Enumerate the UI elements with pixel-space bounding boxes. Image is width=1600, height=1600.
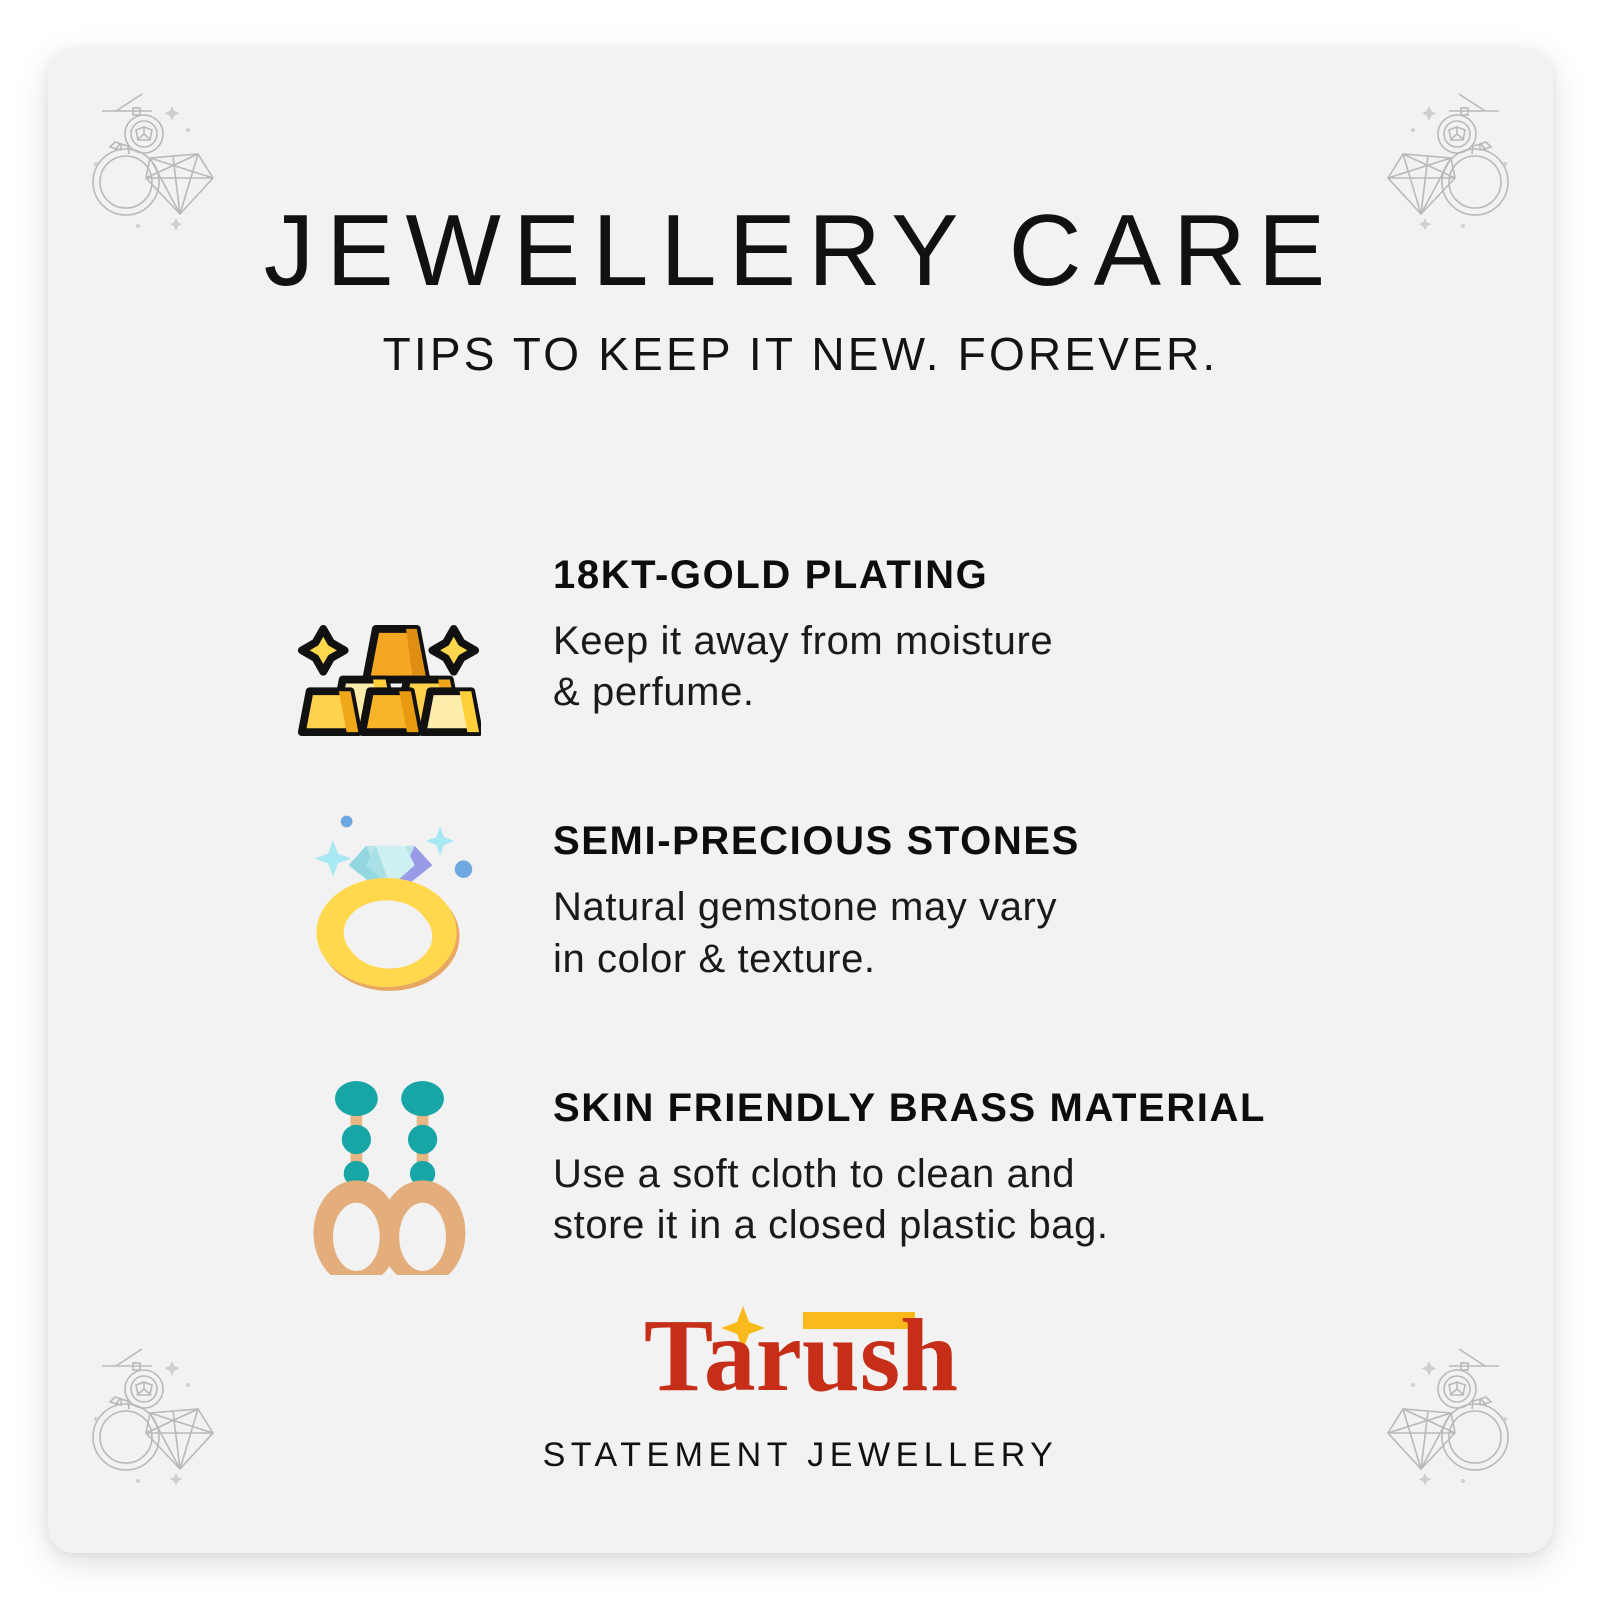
- tip-item-brass-material: SKIN FRIENDLY BRASS MATERIAL Use a soft …: [296, 1081, 1516, 1251]
- tip-item-gold-plating: 18KT-GOLD PLATING Keep it away from mois…: [296, 548, 1516, 718]
- tip-item-semi-precious-stones: SEMI-PRECIOUS STONES Natural gemstone ma…: [296, 814, 1516, 984]
- page-title: JEWELLERY CARE: [48, 198, 1553, 305]
- tip-description: Use a soft cloth to clean and store it i…: [553, 1149, 1516, 1251]
- care-card: JEWELLERY CARE TIPS TO KEEP IT NEW. FORE…: [48, 48, 1553, 1553]
- header: JEWELLERY CARE TIPS TO KEEP IT NEW. FORE…: [48, 198, 1553, 381]
- tip-description: Keep it away from moisture & perfume.: [553, 616, 1516, 718]
- gold-bars-icon: [296, 570, 481, 755]
- tip-body: SKIN FRIENDLY BRASS MATERIAL Use a soft …: [553, 1081, 1516, 1251]
- brand-tagline: STATEMENT JEWELLERY: [48, 1436, 1553, 1475]
- tip-heading: 18KT-GOLD PLATING: [553, 552, 1516, 598]
- tip-heading: SKIN FRIENDLY BRASS MATERIAL: [553, 1085, 1516, 1131]
- footer: Tarush STATEMENT JEWELLERY: [48, 1290, 1553, 1475]
- logo-wordmark: Tarush: [643, 1298, 957, 1400]
- drop-earrings-icon: [296, 1083, 481, 1268]
- page-subtitle: TIPS TO KEEP IT NEW. FOREVER.: [48, 327, 1553, 381]
- tips-list: 18KT-GOLD PLATING Keep it away from mois…: [296, 548, 1516, 1251]
- tip-description: Natural gemstone may vary in color & tex…: [553, 882, 1516, 984]
- tip-body: 18KT-GOLD PLATING Keep it away from mois…: [553, 548, 1516, 718]
- brand-logo: Tarush: [48, 1290, 1553, 1400]
- tip-body: SEMI-PRECIOUS STONES Natural gemstone ma…: [553, 814, 1516, 984]
- infographic-canvas: JEWELLERY CARE TIPS TO KEEP IT NEW. FORE…: [0, 0, 1600, 1600]
- tip-heading: SEMI-PRECIOUS STONES: [553, 818, 1516, 864]
- diamond-ring-icon: [296, 802, 481, 987]
